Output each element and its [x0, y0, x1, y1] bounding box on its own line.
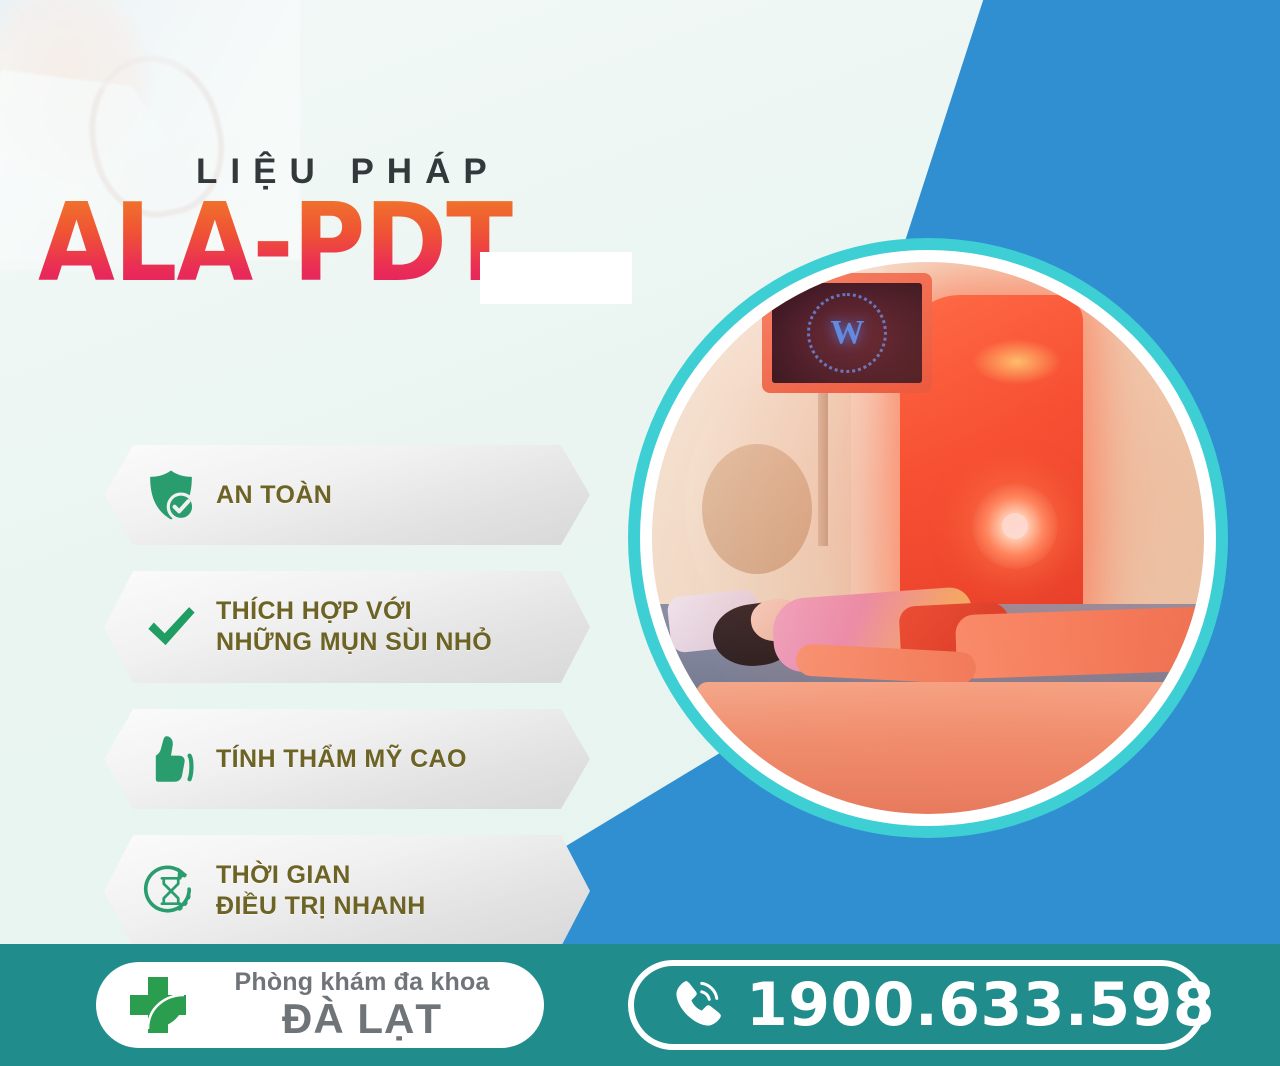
title-white-block — [480, 252, 632, 304]
feature-badge-label: THỜI GIAN ĐIỀU TRỊ NHANH — [216, 860, 426, 922]
feature-line: THÍCH HỢP VỚI — [216, 596, 492, 627]
feature-badge-label: AN TOÀN — [216, 480, 332, 511]
monitor-logo-glyph: W — [830, 314, 864, 352]
hourglass-clock-icon — [140, 860, 202, 922]
machine-monitor: W — [762, 273, 932, 393]
shield-check-icon — [140, 464, 202, 526]
clinic-name-group: Phòng khám đa khoa ĐÀ LẠT — [202, 969, 544, 1041]
feature-line: NHỮNG MỤN SÙI NHỎ — [216, 627, 492, 658]
feature-line: AN TOÀN — [216, 480, 332, 511]
check-mark-icon — [140, 596, 202, 658]
promo-banner: W LIỆU PHÁP ALA-PDT — [0, 0, 1280, 1066]
clinic-subtitle: Phòng khám đa khoa — [234, 969, 489, 997]
feature-line: ĐIỀU TRỊ NHANH — [216, 891, 426, 922]
page-title: ALA-PDT — [38, 190, 513, 298]
feature-badge-speed[interactable]: THỜI GIAN ĐIỀU TRỊ NHANH — [104, 835, 590, 947]
feature-list: AN TOÀN THÍCH HỢP VỚI NHỮNG MỤN SÙI NHỎ — [104, 445, 590, 973]
therapy-photo-frame: W — [640, 250, 1216, 826]
bed-base — [696, 682, 1204, 814]
feature-badge-aesthetics[interactable]: TÍNH THẨM MỸ CAO — [104, 709, 590, 809]
feature-badge-label: THÍCH HỢP VỚI NHỮNG MỤN SÙI NHỎ — [216, 596, 492, 658]
therapy-lamp — [972, 483, 1058, 569]
photo-turquoise-ring: W — [628, 238, 1228, 838]
therapy-photo: W — [652, 262, 1204, 814]
thumbs-up-icon — [140, 728, 202, 790]
patient-legs — [955, 605, 1204, 679]
hotline-button[interactable]: 1900.633.598 — [628, 960, 1206, 1050]
feature-line: TÍNH THẨM MỸ CAO — [216, 744, 467, 775]
phone-call-icon — [668, 974, 730, 1036]
feature-badge-safety[interactable]: AN TOÀN — [104, 445, 590, 545]
clinic-title: ĐÀ LẠT — [282, 997, 442, 1041]
monitor-screen: W — [772, 283, 922, 383]
clinic-branding[interactable]: Phòng khám đa khoa ĐÀ LẠT — [96, 962, 544, 1048]
feature-line: THỜI GIAN — [216, 860, 426, 891]
feature-badge-label: TÍNH THẨM MỸ CAO — [216, 744, 467, 775]
machine-gantry-bore — [702, 444, 812, 574]
clinic-cross-leaf-logo — [122, 969, 194, 1041]
footer-bar: Phòng khám đa khoa ĐÀ LẠT 1900.633.598 — [0, 944, 1280, 1066]
hotline-number: 1900.633.598 — [746, 970, 1215, 1040]
feature-badge-suitability[interactable]: THÍCH HỢP VỚI NHỮNG MỤN SÙI NHỎ — [104, 571, 590, 683]
